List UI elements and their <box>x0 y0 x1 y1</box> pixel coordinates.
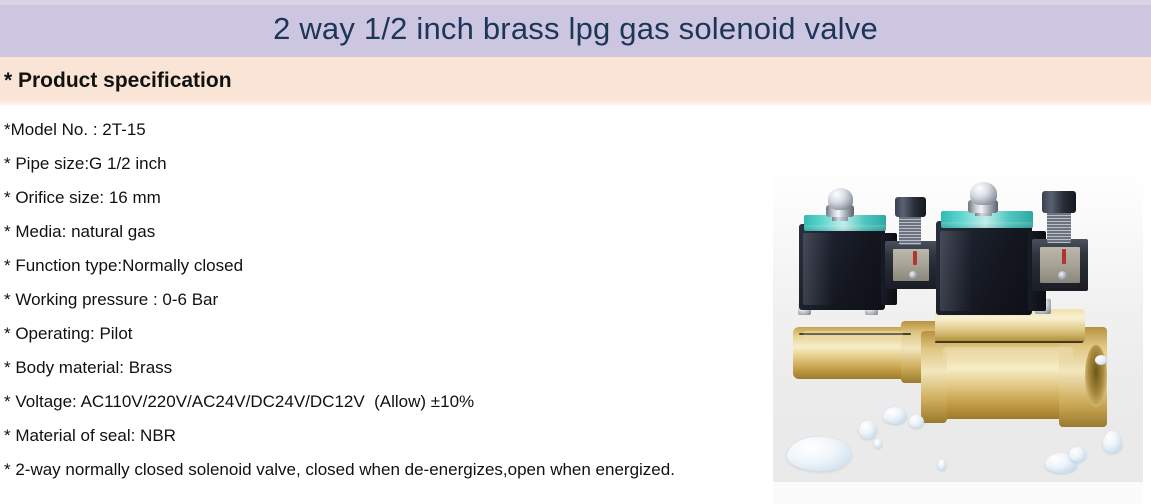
water-droplet-5 <box>938 459 946 470</box>
din-gland-ribs-left <box>899 213 921 245</box>
water-droplet-9 <box>1095 355 1107 365</box>
specification-line: * 2-way normally closed solenoid valve, … <box>4 453 764 487</box>
specification-line: * Media: natural gas <box>4 215 764 249</box>
valve-stem-cap-left <box>828 188 853 210</box>
din-cable-gland-left <box>895 197 926 217</box>
section-bar-fade <box>0 99 1151 105</box>
din-indicator-right <box>1062 249 1066 264</box>
specification-line: * Orifice size: 16 mm <box>4 181 764 215</box>
specification-line: *Model No. : 2T-15 <box>4 113 764 147</box>
specification-line: * Operating: Pilot <box>4 317 764 351</box>
valve-stem-cap-right <box>970 182 997 205</box>
water-droplet-7 <box>1069 447 1086 462</box>
din-indicator-left <box>913 251 917 265</box>
din-cable-gland-right <box>1042 191 1076 213</box>
valve-highlight-right <box>943 347 1073 363</box>
valve-port-left-side-right <box>921 331 947 423</box>
coil-label-shade-left <box>804 225 886 232</box>
water-puddle-large <box>787 437 851 471</box>
title-banner: 2 way 1/2 inch brass lpg gas solenoid va… <box>0 0 1151 57</box>
specification-line: * Function type:Normally closed <box>4 249 764 283</box>
specification-line: * Material of seal: NBR <box>4 419 764 453</box>
photo-top-sheen <box>773 141 1143 181</box>
specification-line: * Pipe size:G 1/2 inch <box>4 147 764 181</box>
page-title: 2 way 1/2 inch brass lpg gas solenoid va… <box>0 0 1151 57</box>
water-droplet-3 <box>909 415 924 428</box>
specification-line: * Working pressure : 0-6 Bar <box>4 283 764 317</box>
water-droplet-8 <box>1103 431 1122 453</box>
coil-label-shade-right <box>941 222 1033 229</box>
water-droplet-4 <box>874 439 882 448</box>
specification-list: *Model No. : 2T-15* Pipe size:G 1/2 inch… <box>4 113 764 487</box>
valve-highlight-left <box>803 331 903 341</box>
din-screw-right <box>1058 271 1067 280</box>
product-specification-bar: * Product specification <box>0 57 1151 105</box>
water-droplet-1 <box>859 421 877 439</box>
coil-highlight-left <box>803 233 833 305</box>
section-heading: * Product specification <box>4 57 232 105</box>
coil-highlight-right <box>940 231 972 311</box>
valve-port-bore-right <box>1085 345 1107 407</box>
specification-line: * Body material: Brass <box>4 351 764 385</box>
din-screw-left <box>909 271 917 279</box>
valve-seam-right <box>935 341 1083 343</box>
water-droplet-2 <box>883 407 907 424</box>
specification-line: * Voltage: AC110V/220V/AC24V/DC24V/DC12V… <box>4 385 764 419</box>
product-photo <box>773 141 1143 504</box>
din-gland-ribs-right <box>1047 209 1071 243</box>
photo-floor <box>773 482 1143 504</box>
